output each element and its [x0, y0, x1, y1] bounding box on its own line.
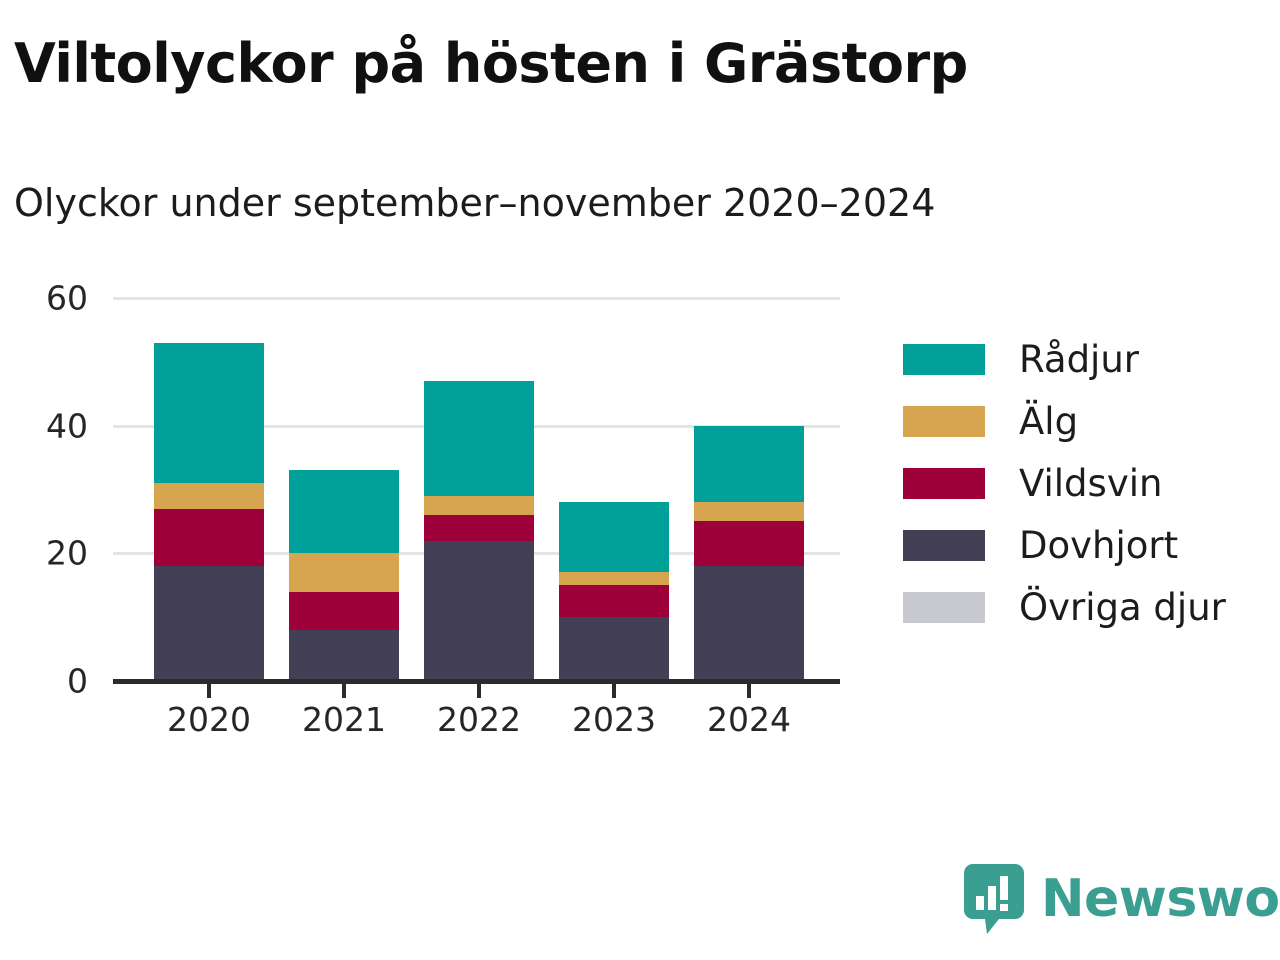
bar-segment-vildsvin-2020[interactable]: [154, 509, 264, 566]
x-axis-tick-label-2020: 2020: [142, 700, 276, 739]
legend-swatch-vildsvin: [903, 468, 985, 499]
x-axis-tick-label-2022: 2022: [412, 700, 546, 739]
bar-group-2022[interactable]: [424, 298, 534, 681]
legend-item-ovriga-djur[interactable]: Övriga djur: [903, 576, 1263, 638]
bar-segment-vildsvin-2021[interactable]: [289, 592, 399, 630]
y-axis-tick-label: 0: [0, 662, 88, 701]
newsworthy-logo: Newsworthy: [963, 862, 1280, 936]
legend-item-vildsvin[interactable]: Vildsvin: [903, 452, 1263, 514]
bar-group-2024[interactable]: [694, 298, 804, 681]
x-axis-tick-label-2024: 2024: [682, 700, 816, 739]
legend-label: Vildsvin: [1019, 462, 1162, 505]
bar-segment-radjur-2020[interactable]: [154, 343, 264, 483]
x-axis-tick-label-2023: 2023: [547, 700, 681, 739]
y-axis-tick-label: 20: [0, 534, 88, 573]
bar-segment-dovhjort-2022[interactable]: [424, 541, 534, 681]
x-axis-tick-2021: [342, 684, 346, 698]
bar-segment-dovhjort-2024[interactable]: [694, 566, 804, 681]
bar-segment-alg-2023[interactable]: [559, 572, 669, 585]
bar-segment-vildsvin-2022[interactable]: [424, 515, 534, 541]
x-axis-tick-label-2021: 2021: [277, 700, 411, 739]
bar-segment-radjur-2022[interactable]: [424, 381, 534, 496]
chart-legend: RådjurÄlgVildsvinDovhjortÖvriga djur: [903, 328, 1263, 638]
y-axis-tick-label: 60: [0, 279, 88, 318]
legend-label: Älg: [1019, 400, 1078, 443]
bar-segment-alg-2022[interactable]: [424, 496, 534, 515]
legend-label: Övriga djur: [1019, 586, 1226, 629]
y-axis-tick-label: 40: [0, 406, 88, 445]
legend-item-radjur[interactable]: Rådjur: [903, 328, 1263, 390]
bar-segment-vildsvin-2023[interactable]: [559, 585, 669, 617]
bar-segment-dovhjort-2023[interactable]: [559, 617, 669, 681]
bar-segment-alg-2021[interactable]: [289, 553, 399, 591]
bar-segment-alg-2020[interactable]: [154, 483, 264, 509]
bar-segment-dovhjort-2020[interactable]: [154, 566, 264, 681]
bar-segment-dovhjort-2021[interactable]: [289, 630, 399, 681]
bar-segment-alg-2024[interactable]: [694, 502, 804, 521]
x-axis-tick-2020: [207, 684, 211, 698]
legend-swatch-dovhjort: [903, 530, 985, 561]
legend-swatch-alg: [903, 406, 985, 437]
newsworthy-bubble-icon: [963, 862, 1025, 936]
bar-group-2023[interactable]: [559, 298, 669, 681]
legend-item-dovhjort[interactable]: Dovhjort: [903, 514, 1263, 576]
newsworthy-wordmark: Newsworthy: [1041, 873, 1280, 925]
bar-segment-radjur-2023[interactable]: [559, 502, 669, 572]
legend-item-alg[interactable]: Älg: [903, 390, 1263, 452]
bar-group-2020[interactable]: [154, 298, 264, 681]
x-axis-tick-2023: [612, 684, 616, 698]
legend-swatch-ovriga-djur: [903, 592, 985, 623]
bar-group-2021[interactable]: [289, 298, 399, 681]
x-axis-tick-2024: [747, 684, 751, 698]
legend-label: Dovhjort: [1019, 524, 1178, 567]
legend-swatch-radjur: [903, 344, 985, 375]
bar-segment-vildsvin-2024[interactable]: [694, 521, 804, 566]
x-axis-tick-2022: [477, 684, 481, 698]
bar-segment-radjur-2021[interactable]: [289, 470, 399, 553]
legend-label: Rådjur: [1019, 338, 1139, 381]
bar-segment-radjur-2024[interactable]: [694, 426, 804, 503]
